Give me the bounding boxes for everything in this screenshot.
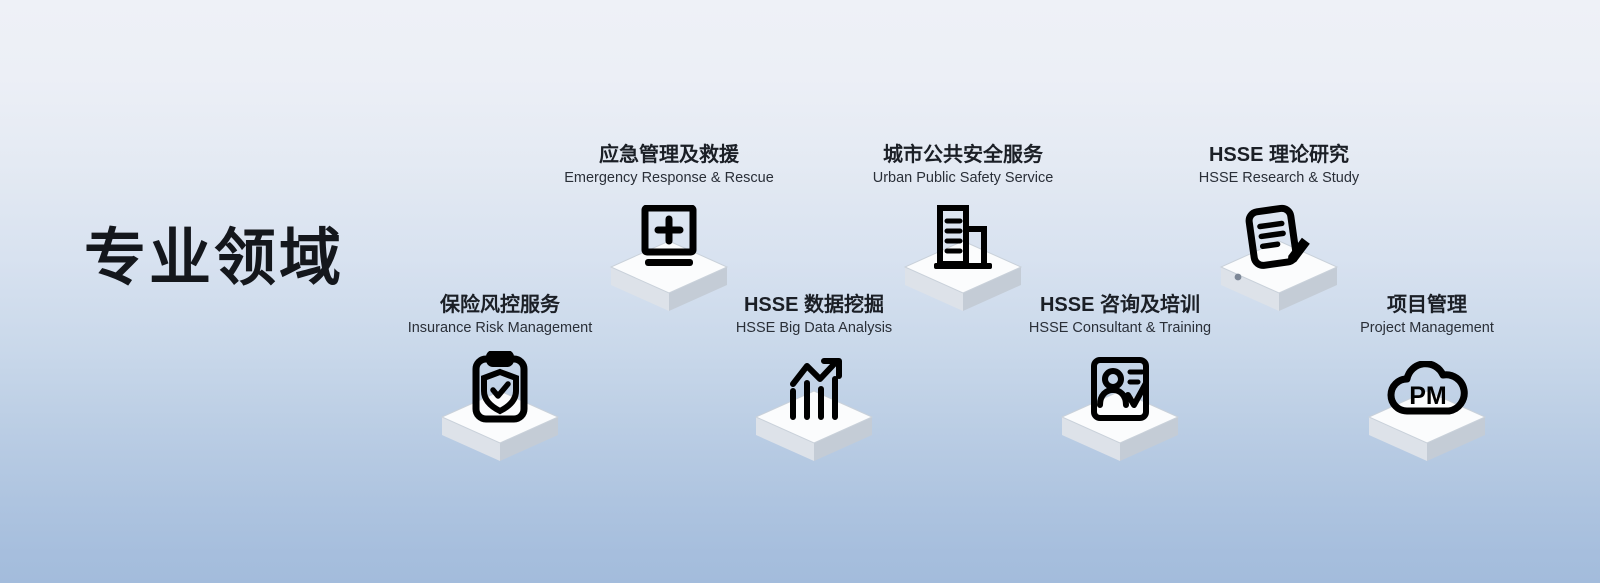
category-label-cn: 城市公共安全服务 xyxy=(813,144,1113,166)
icon-stage: PM xyxy=(1277,349,1577,465)
first-aid-box-icon xyxy=(639,205,699,271)
category-emergency-response-rescue[interactable]: 应急管理及救援 Emergency Response & Rescue xyxy=(519,144,819,315)
city-buildings-icon xyxy=(932,205,994,271)
category-hsse-consultant-training[interactable]: HSSE 咨询及培训 HSSE Consultant & Training xyxy=(970,294,1270,465)
svg-text:PM: PM xyxy=(1409,382,1447,410)
category-label-en: HSSE Consultant & Training xyxy=(970,319,1270,337)
category-label-cn: HSSE 理论研究 xyxy=(1129,144,1429,166)
category-urban-public-safety-service[interactable]: 城市公共安全服务 Urban Public Safety Service xyxy=(813,144,1113,315)
category-insurance-risk-management[interactable]: 保险风控服务 Insurance Risk Management xyxy=(350,294,650,465)
category-hsse-big-data-analysis[interactable]: HSSE 数据挖掘 HSSE Big Data Analysis xyxy=(664,294,964,465)
icon-stage xyxy=(350,349,650,465)
category-label-cn: 保险风控服务 xyxy=(350,294,650,316)
page-title: 专业领域 xyxy=(84,228,344,290)
category-label-cn: HSSE 数据挖掘 xyxy=(664,294,964,316)
category-hsse-research-study[interactable]: HSSE 理论研究 HSSE Research & Study xyxy=(1129,144,1429,315)
category-label-en: Project Management xyxy=(1277,319,1577,337)
category-label-en: HSSE Research & Study xyxy=(1129,169,1429,187)
category-label-cn: 应急管理及救援 xyxy=(519,144,819,166)
icon-stage xyxy=(664,349,964,465)
bar-chart-trend-icon xyxy=(782,355,846,423)
id-card-person-check-icon xyxy=(1088,355,1152,423)
category-label-en: Insurance Risk Management xyxy=(350,319,650,337)
category-label-en: HSSE Big Data Analysis xyxy=(664,319,964,337)
category-label-en: Urban Public Safety Service xyxy=(813,169,1113,187)
category-label-cn: 项目管理 xyxy=(1277,294,1577,316)
category-project-management[interactable]: 项目管理 Project Management PM xyxy=(1277,294,1577,465)
icon-stage xyxy=(970,349,1270,465)
document-pencil-icon xyxy=(1239,201,1318,280)
category-label-en: Emergency Response & Rescue xyxy=(519,169,819,187)
category-label-cn: HSSE 咨询及培训 xyxy=(970,294,1270,316)
cloud-pm-icon: PM xyxy=(1385,361,1469,417)
professional-domains-banner: 专业领域 应急管理及救援 Emergency Response & Rescue… xyxy=(0,0,1600,583)
clipboard-shield-check-icon xyxy=(471,351,529,423)
